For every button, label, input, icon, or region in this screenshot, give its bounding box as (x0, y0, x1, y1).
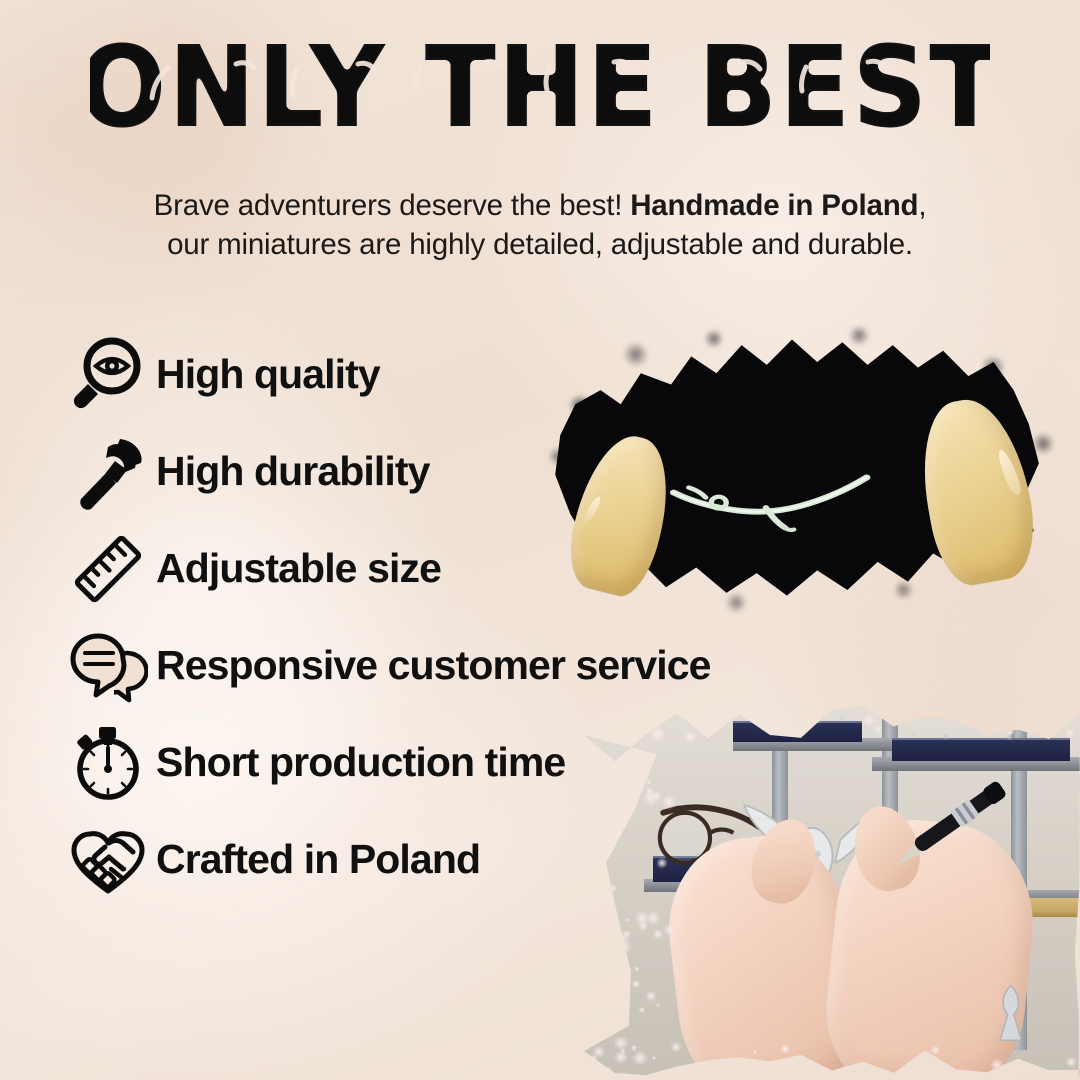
feature-label: High durability (156, 448, 430, 495)
workshop-scene (584, 700, 1080, 1080)
subtitle: Brave adventurers deserve the best! Hand… (90, 186, 990, 264)
subtitle-line-1: Brave adventurers deserve the best! Hand… (154, 189, 927, 222)
subtitle-text-plain: Brave adventurers deserve the best! (154, 189, 631, 222)
ruler-icon (60, 529, 156, 609)
flexible-miniature-photo (524, 316, 1060, 622)
feature-label: Crafted in Poland (156, 836, 480, 883)
tray-contents (733, 711, 862, 726)
feature-label: Responsive customer service (156, 642, 711, 689)
feature-label: Adjustable size (156, 545, 441, 592)
tray-contents (892, 727, 1071, 744)
stopwatch-icon (60, 723, 156, 803)
workshop-crafting-photo (584, 700, 1080, 1080)
page-title: ONLY THE BEST (0, 34, 1080, 154)
feature-label: High quality (156, 351, 380, 398)
hobby-knife (852, 753, 1070, 890)
hammer-icon (60, 432, 156, 512)
magnifier-eye-icon (60, 335, 156, 415)
promo-infographic: ONLY THE BEST Brave adventurers dese (0, 0, 1080, 1080)
flexible-miniature-part (663, 469, 942, 536)
svg-text:ONLY THE BEST: ONLY THE BEST (90, 34, 990, 153)
speech-bubbles-icon (60, 626, 156, 706)
subtitle-text-comma: , (918, 189, 926, 222)
fingernail-left (582, 495, 603, 524)
handshake-heart-icon (60, 820, 156, 900)
subtitle-text-bold: Handmade in Poland (630, 189, 918, 222)
feature-label: Short production time (156, 739, 565, 786)
pawn-miniature (981, 981, 1041, 1049)
subtitle-line-2: our miniatures are highly detailed, adju… (167, 228, 913, 261)
